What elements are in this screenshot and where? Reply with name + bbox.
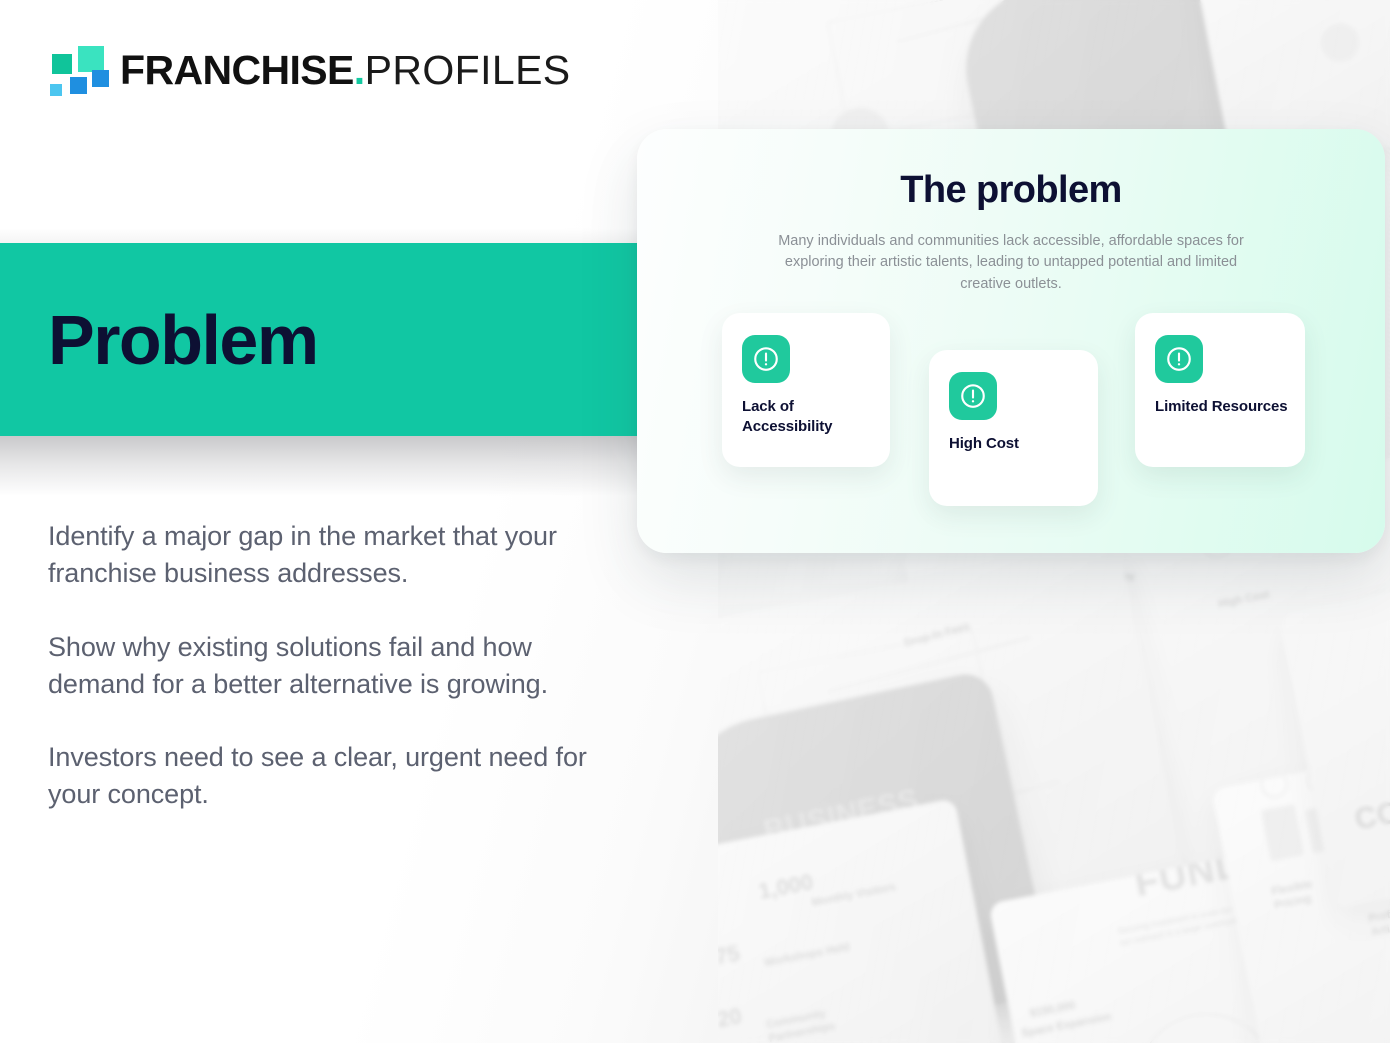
feature-label: High Cost bbox=[949, 434, 1086, 454]
description-block: Identify a major gap in the market that … bbox=[48, 518, 616, 814]
brand-name-dot: . bbox=[354, 47, 365, 93]
feature-card[interactable]: Limited Resources bbox=[1135, 313, 1305, 467]
banner-top-shadow bbox=[0, 228, 638, 244]
feature-card[interactable]: Lack of Accessibility bbox=[722, 313, 890, 467]
feature-card[interactable]: High Cost bbox=[929, 350, 1098, 506]
description-paragraph-1: Identify a major gap in the market that … bbox=[48, 518, 616, 593]
preview-subtitle: Many individuals and communities lack ac… bbox=[760, 231, 1262, 295]
brand-wordmark: FRANCHISE.PROFILES bbox=[120, 50, 571, 91]
page-title: Problem bbox=[48, 305, 318, 375]
exclamation-circle-icon bbox=[949, 372, 997, 420]
squares-logo-icon bbox=[48, 44, 104, 96]
section-banner: Problem bbox=[0, 243, 638, 436]
brand-name-bold: FRANCHISE bbox=[120, 47, 354, 93]
brand-logo[interactable]: FRANCHISE.PROFILES bbox=[48, 44, 571, 96]
feature-label: Lack of Accessibility bbox=[742, 397, 878, 437]
banner-bottom-shadow bbox=[0, 436, 638, 496]
preview-title: The problem bbox=[637, 169, 1385, 212]
brand-name-light: PROFILES bbox=[365, 47, 571, 93]
slide-preview-card[interactable]: The problem Many individuals and communi… bbox=[637, 129, 1385, 553]
feature-label: Limited Resources bbox=[1155, 397, 1293, 417]
left-content-panel: FRANCHISE.PROFILES Problem Identify a ma… bbox=[0, 0, 718, 1043]
description-paragraph-2: Show why existing solutions fail and how… bbox=[48, 629, 616, 704]
exclamation-circle-icon bbox=[742, 335, 790, 383]
description-paragraph-3: Investors need to see a clear, urgent ne… bbox=[48, 739, 616, 814]
exclamation-circle-icon bbox=[1155, 335, 1203, 383]
slide-canvas: Drop-In Fees Session Workshops Commissio… bbox=[0, 0, 1390, 1043]
